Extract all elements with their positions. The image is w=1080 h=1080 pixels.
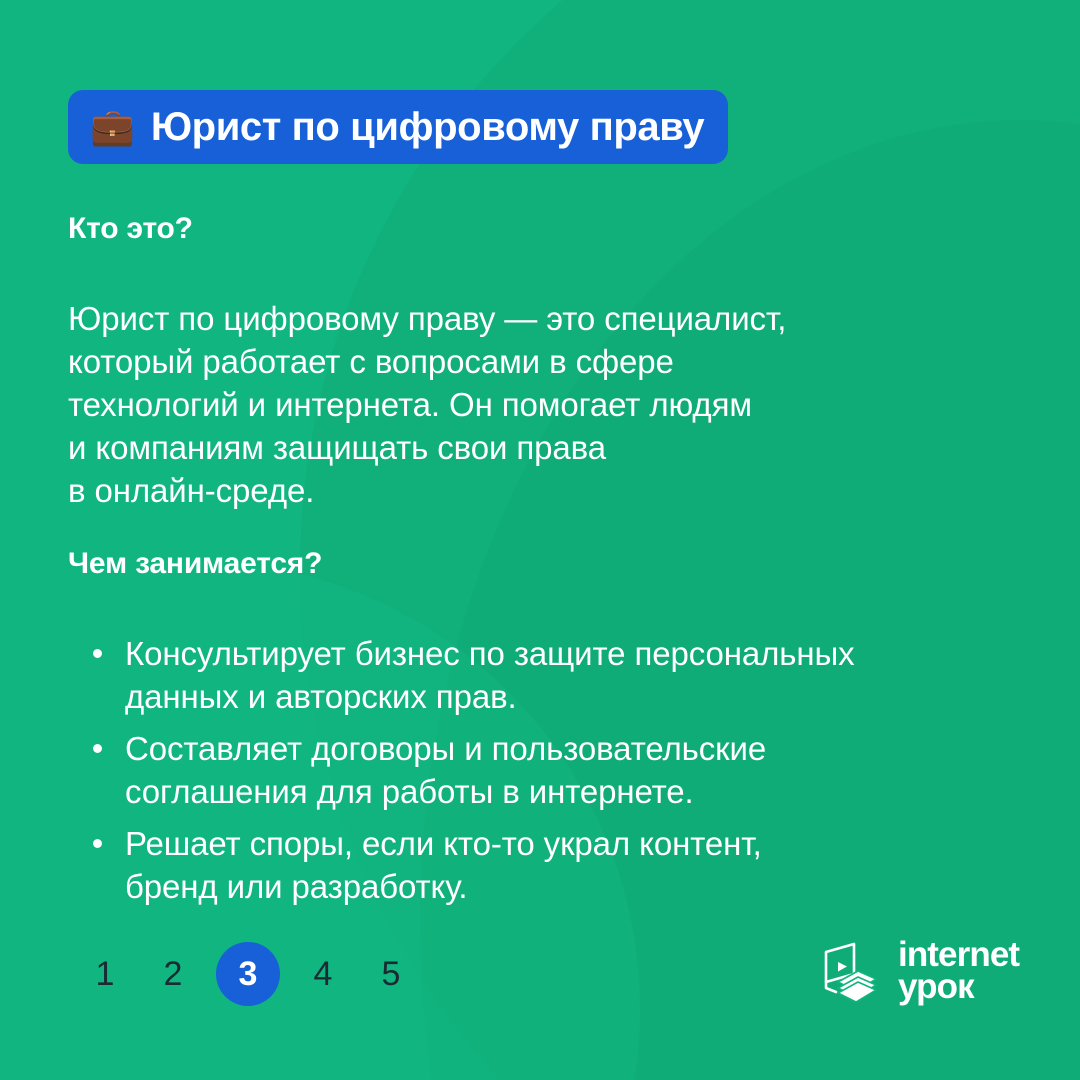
pagination-page-4[interactable]: 4 xyxy=(298,942,348,1006)
paragraph-line: и компаниям защищать свои права xyxy=(68,426,988,469)
list-item-line: Консультирует бизнес по защите персональ… xyxy=(125,632,1048,675)
list-item-line: Составляет договоры и пользовательские xyxy=(125,727,1048,770)
pagination-page-3-active[interactable]: 3 xyxy=(216,942,280,1006)
brand-wordmark: internet урок xyxy=(898,939,1019,1003)
list-item-line: данных и авторских прав. xyxy=(125,675,1048,718)
list-item: Решает споры, если кто-то украл контент,… xyxy=(68,822,1048,908)
who-paragraph: Юрист по цифровому праву — это специалис… xyxy=(68,297,988,512)
pagination-page-5[interactable]: 5 xyxy=(366,942,416,1006)
list-item: Консультирует бизнес по защите персональ… xyxy=(68,632,1048,718)
laptop-book-play-icon xyxy=(818,938,884,1004)
paragraph-line: технологий и интернета. Он помогает людя… xyxy=(68,383,988,426)
briefcase-icon: 💼 xyxy=(90,109,135,145)
pagination: 1 2 3 4 5 xyxy=(80,942,416,1006)
brand-line-urok: урок xyxy=(898,971,1019,1003)
brand-logo: internet урок xyxy=(818,938,1019,1004)
slide: 💼 Юрист по цифровому праву Кто это? Юрис… xyxy=(0,0,1080,1080)
title-badge: 💼 Юрист по цифровому праву xyxy=(68,90,728,164)
pagination-page-2[interactable]: 2 xyxy=(148,942,198,1006)
page-title: Юрист по цифровому праву xyxy=(151,107,704,147)
paragraph-line: Юрист по цифровому праву — это специалис… xyxy=(68,297,988,340)
pagination-page-1[interactable]: 1 xyxy=(80,942,130,1006)
bullet-dot-icon xyxy=(93,839,102,848)
list-item-line: соглашения для работы в интернете. xyxy=(125,770,1048,813)
slide-content: 💼 Юрист по цифровому праву Кто это? Юрис… xyxy=(0,0,1080,1080)
bullet-dot-icon xyxy=(93,649,102,658)
paragraph-line: в онлайн-среде. xyxy=(68,469,988,512)
bullet-dot-icon xyxy=(93,744,102,753)
section-heading-who: Кто это? xyxy=(68,212,193,246)
list-item-line: Решает споры, если кто-то украл контент, xyxy=(125,822,1048,865)
list-item-line: бренд или разработку. xyxy=(125,865,1048,908)
section-heading-does: Чем занимается? xyxy=(68,547,322,581)
duties-list: Консультирует бизнес по защите персональ… xyxy=(68,632,1048,917)
list-item: Составляет договоры и пользовательские с… xyxy=(68,727,1048,813)
paragraph-line: который работает с вопросами в сфере xyxy=(68,340,988,383)
